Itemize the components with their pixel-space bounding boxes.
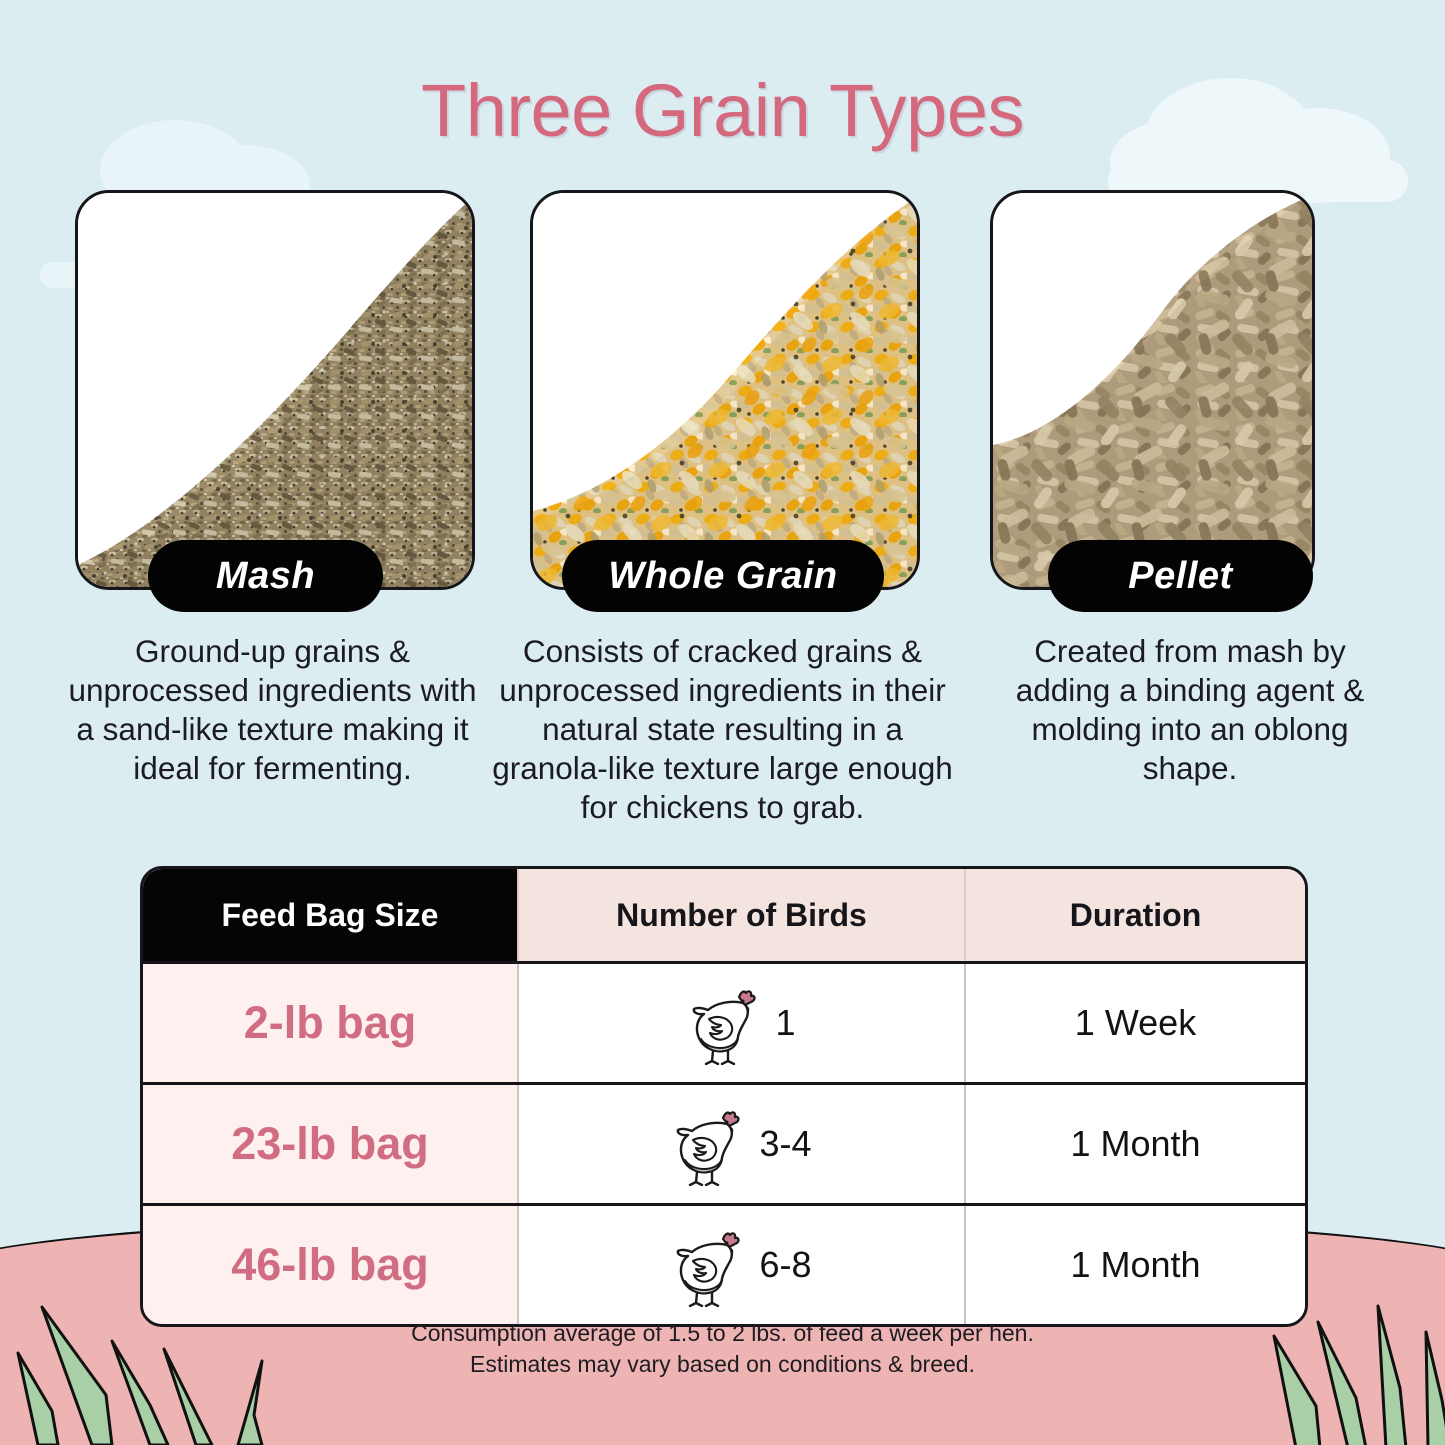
hen-icon <box>671 1223 745 1307</box>
feed-bag-size-cell: 23-lb bag <box>143 1085 517 1203</box>
feed-bag-size-cell: 46-lb bag <box>143 1206 517 1324</box>
duration-cell: 1 Month <box>964 1206 1305 1324</box>
grain-card-mash <box>75 190 475 590</box>
grain-descriptions-row: Ground-up grains & unprocessed ingredien… <box>0 632 1445 842</box>
feed-bag-size-cell: 2-lb bag <box>143 964 517 1082</box>
grain-card-pellet <box>990 190 1315 590</box>
hen-icon <box>687 981 761 1065</box>
table-row: 2-lb bag 1 1 Week <box>143 961 1305 1082</box>
footnote: Consumption average of 1.5 to 2 lbs. of … <box>0 1318 1445 1380</box>
footnote-line-2: Estimates may vary based on conditions &… <box>0 1349 1445 1380</box>
grain-description-pellet: Created from mash by adding a binding ag… <box>1000 632 1380 788</box>
footnote-line-1: Consumption average of 1.5 to 2 lbs. of … <box>0 1318 1445 1349</box>
grain-label-pellet: Pellet <box>1048 540 1313 612</box>
grain-label-whole-grain: Whole Grain <box>562 540 884 612</box>
hen-icon <box>671 1102 745 1186</box>
infographic-root: Three Grain Types <box>0 0 1445 1445</box>
birds-count-label: 1 <box>775 1002 795 1044</box>
table-header-row: Feed Bag Size Number of Birds Duration <box>143 869 1305 961</box>
pellet-feed-pile-photo <box>993 193 1312 587</box>
grain-label-mash: Mash <box>148 540 383 612</box>
page-title: Three Grain Types <box>0 68 1445 153</box>
table-header-feed-bag-size: Feed Bag Size <box>143 869 517 961</box>
birds-count-label: 6-8 <box>759 1244 811 1286</box>
grain-description-whole-grain: Consists of cracked grains & unprocessed… <box>485 632 960 827</box>
number-of-birds-cell: 1 <box>517 964 964 1082</box>
number-of-birds-cell: 3-4 <box>517 1085 964 1203</box>
grain-description-mash: Ground-up grains & unprocessed ingredien… <box>60 632 485 788</box>
birds-count-label: 3-4 <box>759 1123 811 1165</box>
table-header-duration: Duration <box>964 869 1305 961</box>
feed-bag-table: Feed Bag Size Number of Birds Duration 2… <box>140 866 1308 1327</box>
whole-grain-pile-photo <box>533 193 917 587</box>
duration-cell: 1 Month <box>964 1085 1305 1203</box>
mash-grain-pile-photo <box>78 193 472 587</box>
table-row: 23-lb bag 3-4 1 Month <box>143 1082 1305 1203</box>
grain-card-whole-grain <box>530 190 920 590</box>
number-of-birds-cell: 6-8 <box>517 1206 964 1324</box>
table-row: 46-lb bag 6-8 1 Month <box>143 1203 1305 1324</box>
duration-cell: 1 Week <box>964 964 1305 1082</box>
table-header-number-of-birds: Number of Birds <box>517 869 964 961</box>
